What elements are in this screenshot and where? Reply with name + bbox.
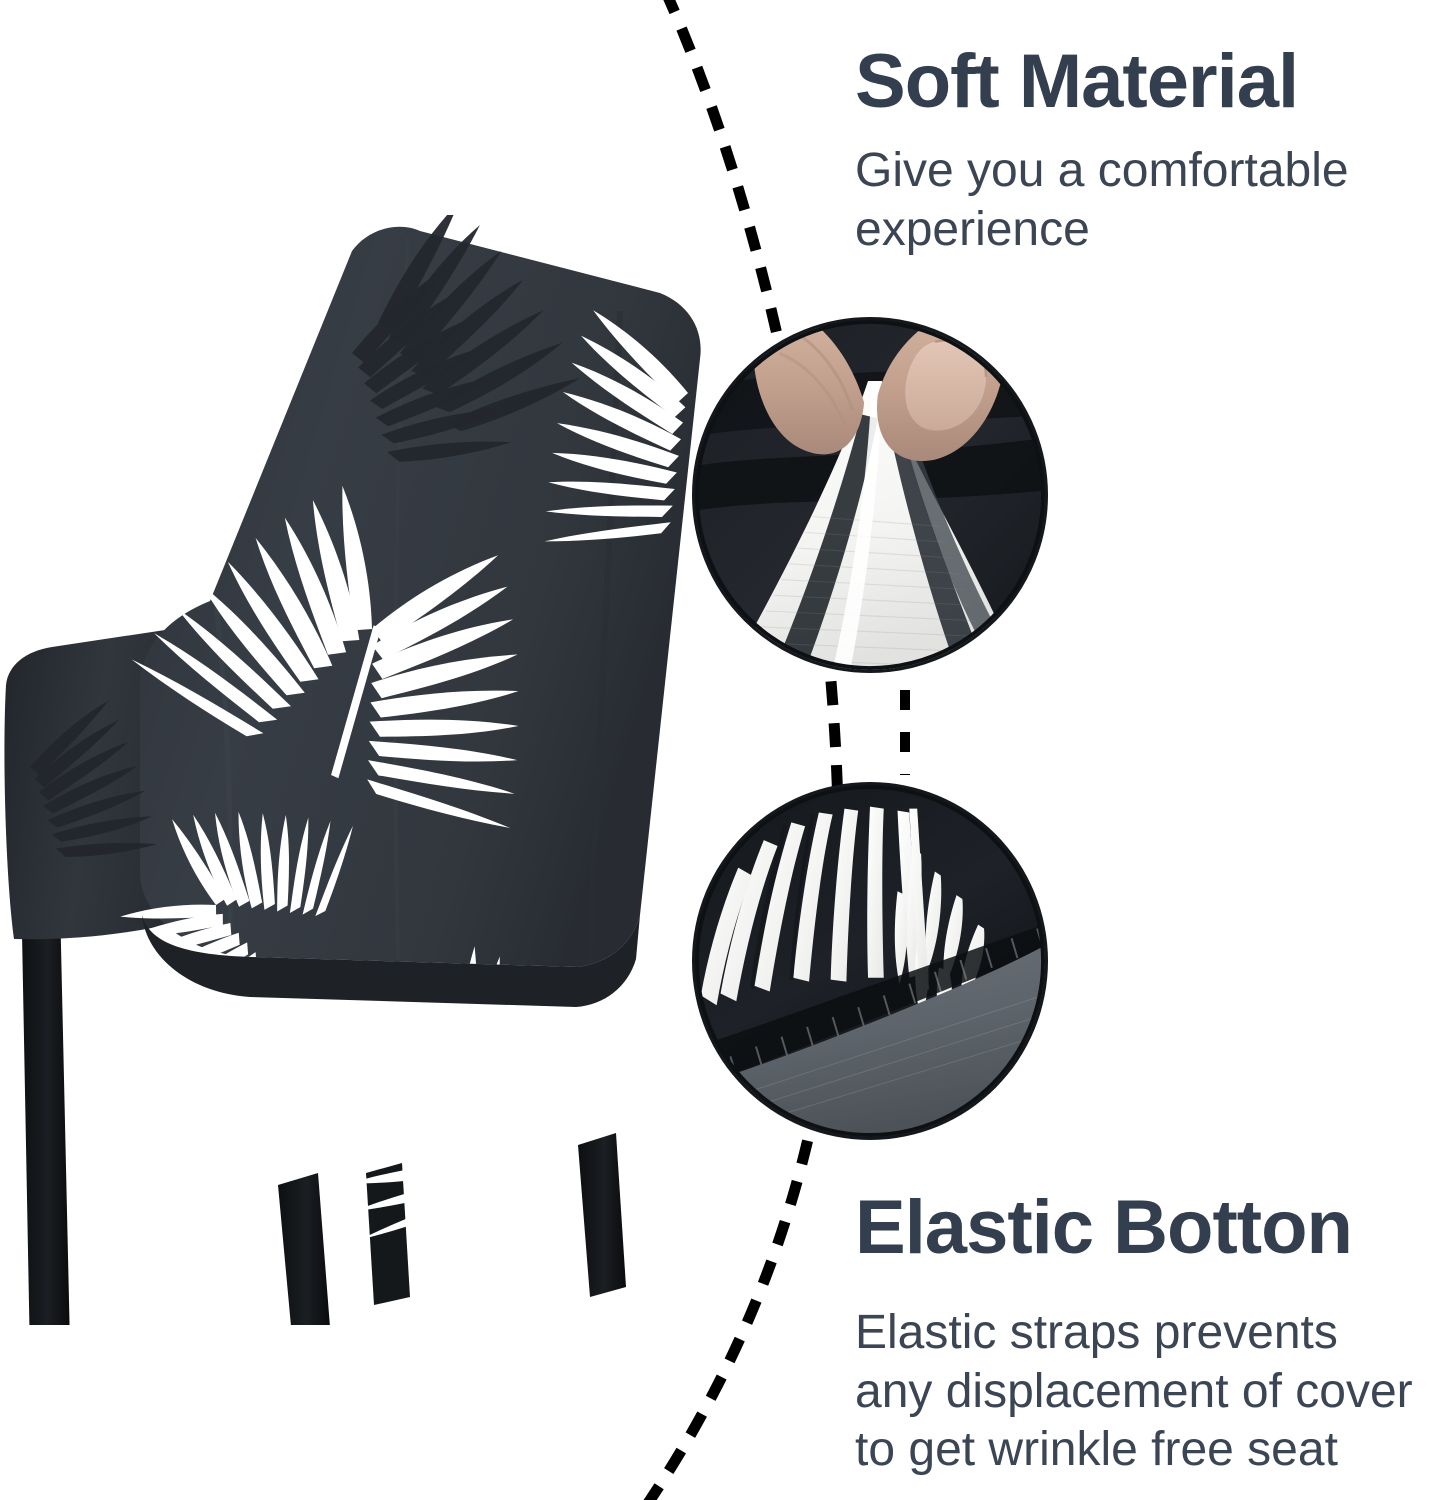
product-chair-image xyxy=(0,215,720,1325)
fabric-pinch-photo xyxy=(692,317,1048,673)
feature-soft-material: Soft Material Give you a comfortable exp… xyxy=(855,44,1425,259)
soft-material-headline: Soft Material xyxy=(855,44,1425,120)
elastic-botton-body: Elastic straps prevents any displacement… xyxy=(855,1304,1425,1480)
elastic-botton-headline: Elastic Botton xyxy=(855,1190,1425,1266)
infographic-canvas: Soft Material Give you a comfortable exp… xyxy=(0,0,1431,1500)
soft-material-body: Give you a comfortable experience xyxy=(855,142,1425,259)
feature-elastic-botton: Elastic Botton Elastic straps prevents a… xyxy=(855,1190,1425,1480)
elastic-hem-photo xyxy=(692,782,1048,1140)
